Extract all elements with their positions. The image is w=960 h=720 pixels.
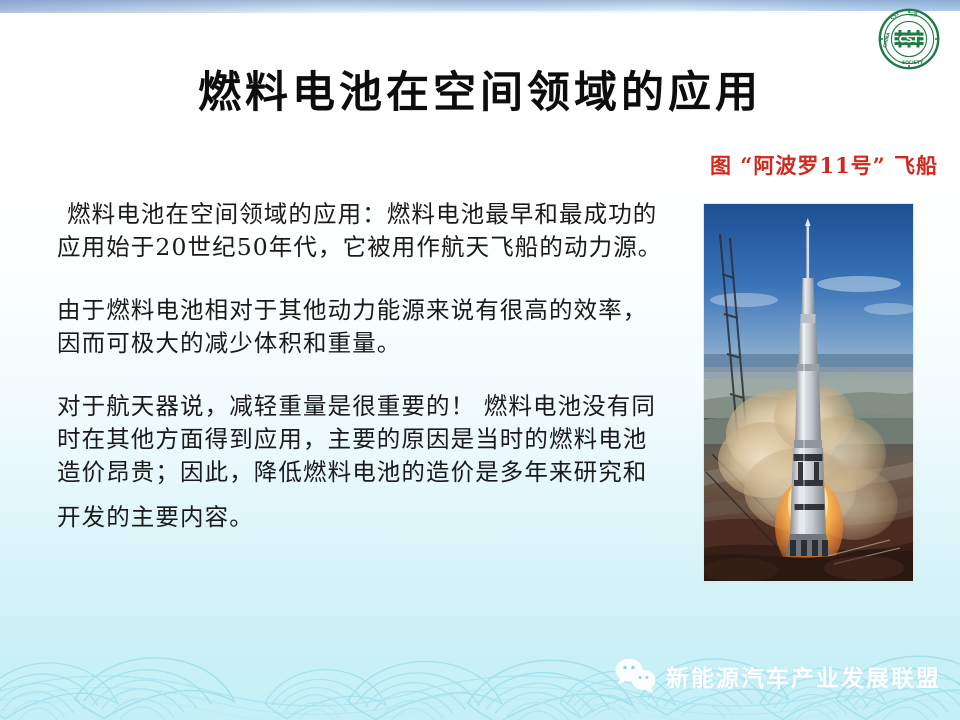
apollo-11-launch-photo <box>703 203 914 582</box>
paragraph-4: 开发的主要内容。 <box>57 501 667 534</box>
paragraph-3: 对于航天器说，减轻重量是很重要的！ 燃料电池没有同时在其他方面得到应用，主要的原… <box>57 390 667 489</box>
wechat-watermark: 新能源汽车产业发展联盟 <box>614 652 944 700</box>
figure-caption: 图 “阿波罗11号” 飞船 <box>0 150 938 180</box>
watermark-label: 新能源汽车产业发展联盟 <box>666 659 941 693</box>
top-hairline-divider <box>0 11 960 13</box>
wechat-icon <box>614 656 658 696</box>
paragraph-1: 燃料电池在空间领域的应用：燃料电池最早和最成功的应用始于20世纪50年代，它被用… <box>57 198 667 264</box>
svg-text:CHINA: CHINA <box>882 31 892 48</box>
body-text-block: 燃料电池在空间领域的应用：燃料电池最早和最成功的应用始于20世纪50年代，它被用… <box>57 198 667 534</box>
paragraph-2: 由于燃料电池相对于其他动力能源来说有很高的效率，因而可极大的减少体积和重量。 <box>57 294 667 360</box>
page-title: 燃料电池在空间领域的应用 <box>0 58 960 120</box>
svg-text:三亚: 三亚 <box>909 11 918 18</box>
svg-text:·: · <box>905 13 907 18</box>
paragraph-spacer <box>57 264 667 294</box>
seal-monogram: CST <box>899 34 920 45</box>
paragraph-spacer <box>57 360 667 390</box>
top-decorative-strip <box>0 0 960 11</box>
slide-canvas: CST CST · 三亚 CHINA SOCIETY 燃料电池在空间领域的应用 … <box>0 0 960 720</box>
top-strip-shading <box>0 0 960 11</box>
